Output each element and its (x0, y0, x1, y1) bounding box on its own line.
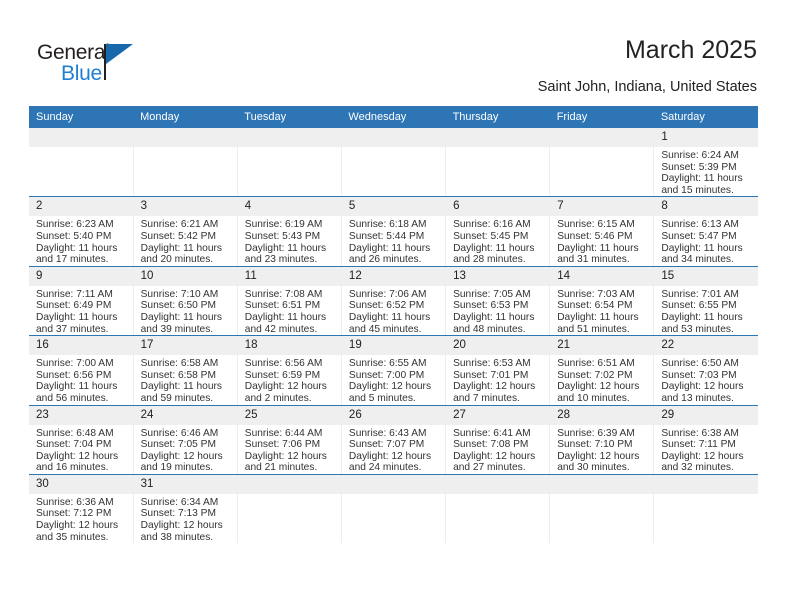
sunset-text: Sunset: 7:03 PM (661, 370, 754, 382)
calendar-day-cell[interactable]: 11Sunrise: 7:08 AMSunset: 6:51 PMDayligh… (237, 266, 341, 335)
general-blue-logo[interactable]: General Blue (37, 41, 167, 89)
day-number: 14 (550, 267, 653, 286)
sunrise-text: Sunrise: 7:00 AM (36, 358, 129, 370)
calendar-day-cell-empty (341, 474, 445, 543)
day-details: Sunrise: 7:06 AMSunset: 6:52 PMDaylight:… (342, 286, 445, 335)
daylight-text-line1: Daylight: 11 hours (36, 381, 129, 393)
sunset-text: Sunset: 6:59 PM (245, 370, 337, 382)
sunset-text: Sunset: 7:02 PM (557, 370, 649, 382)
calendar-day-cell-empty (237, 128, 341, 197)
sunset-text: Sunset: 5:40 PM (36, 231, 129, 243)
day-details: Sunrise: 6:36 AMSunset: 7:12 PMDaylight:… (29, 494, 133, 543)
sunrise-text: Sunrise: 6:58 AM (141, 358, 233, 370)
calendar-day-cell[interactable]: 30Sunrise: 6:36 AMSunset: 7:12 PMDayligh… (29, 474, 133, 543)
sunrise-text: Sunrise: 6:41 AM (453, 428, 545, 440)
daylight-text-line1: Daylight: 12 hours (453, 381, 545, 393)
daylight-text-line1: Daylight: 12 hours (245, 381, 337, 393)
page-title: March 2025 (625, 36, 757, 65)
sunset-text: Sunset: 5:39 PM (661, 162, 754, 174)
day-details: Sunrise: 6:50 AMSunset: 7:03 PMDaylight:… (654, 355, 758, 404)
daylight-text-line2: and 48 minutes. (453, 324, 545, 336)
day-details: Sunrise: 7:03 AMSunset: 6:54 PMDaylight:… (550, 286, 653, 335)
calendar-day-cell[interactable]: 29Sunrise: 6:38 AMSunset: 7:11 PMDayligh… (654, 405, 758, 474)
daylight-text-line2: and 7 minutes. (453, 393, 545, 405)
sunset-text: Sunset: 5:42 PM (141, 231, 233, 243)
calendar-day-cell[interactable]: 15Sunrise: 7:01 AMSunset: 6:55 PMDayligh… (654, 266, 758, 335)
day-number (342, 475, 445, 494)
day-number: 7 (550, 197, 653, 216)
sunrise-text: Sunrise: 6:53 AM (453, 358, 545, 370)
day-details: Sunrise: 6:18 AMSunset: 5:44 PMDaylight:… (342, 216, 445, 265)
day-details: Sunrise: 7:00 AMSunset: 6:56 PMDaylight:… (29, 355, 133, 404)
calendar-week-row: 16Sunrise: 7:00 AMSunset: 6:56 PMDayligh… (29, 336, 758, 405)
calendar-day-cell[interactable]: 16Sunrise: 7:00 AMSunset: 6:56 PMDayligh… (29, 336, 133, 405)
calendar-day-cell[interactable]: 22Sunrise: 6:50 AMSunset: 7:03 PMDayligh… (654, 336, 758, 405)
sunrise-text: Sunrise: 6:43 AM (349, 428, 441, 440)
logo-flag-icon (106, 44, 133, 64)
daylight-text-line2: and 34 minutes. (661, 254, 754, 266)
weekday-header-saturday: Saturday (654, 106, 758, 128)
calendar-week-row: 23Sunrise: 6:48 AMSunset: 7:04 PMDayligh… (29, 405, 758, 474)
day-number: 31 (134, 475, 237, 494)
day-number: 12 (342, 267, 445, 286)
day-details: Sunrise: 6:23 AMSunset: 5:40 PMDaylight:… (29, 216, 133, 265)
daylight-text-line1: Daylight: 12 hours (557, 451, 649, 463)
day-number: 9 (29, 267, 133, 286)
sunset-text: Sunset: 7:10 PM (557, 439, 649, 451)
calendar-day-cell[interactable]: 12Sunrise: 7:06 AMSunset: 6:52 PMDayligh… (341, 266, 445, 335)
day-details: Sunrise: 6:53 AMSunset: 7:01 PMDaylight:… (446, 355, 549, 404)
daylight-text-line2: and 27 minutes. (453, 462, 545, 474)
sunrise-text: Sunrise: 6:48 AM (36, 428, 129, 440)
daylight-text-line2: and 19 minutes. (141, 462, 233, 474)
daylight-text-line1: Daylight: 11 hours (245, 243, 337, 255)
sunset-text: Sunset: 7:08 PM (453, 439, 545, 451)
calendar-day-cell-empty (341, 128, 445, 197)
sunrise-text: Sunrise: 6:55 AM (349, 358, 441, 370)
sunrise-text: Sunrise: 6:44 AM (245, 428, 337, 440)
daylight-text-line2: and 39 minutes. (141, 324, 233, 336)
calendar-day-cell[interactable]: 9Sunrise: 7:11 AMSunset: 6:49 PMDaylight… (29, 266, 133, 335)
daylight-text-line2: and 37 minutes. (36, 324, 129, 336)
calendar-day-cell-empty (446, 474, 550, 543)
sunrise-text: Sunrise: 6:19 AM (245, 219, 337, 231)
day-details: Sunrise: 6:56 AMSunset: 6:59 PMDaylight:… (238, 355, 341, 404)
calendar-day-cell[interactable]: 17Sunrise: 6:58 AMSunset: 6:58 PMDayligh… (133, 336, 237, 405)
day-number: 18 (238, 336, 341, 355)
day-number: 23 (29, 406, 133, 425)
sunset-text: Sunset: 7:00 PM (349, 370, 441, 382)
daylight-text-line2: and 32 minutes. (661, 462, 754, 474)
daylight-text-line1: Daylight: 11 hours (453, 312, 545, 324)
day-number: 5 (342, 197, 445, 216)
day-details: Sunrise: 6:44 AMSunset: 7:06 PMDaylight:… (238, 425, 341, 474)
daylight-text-line1: Daylight: 11 hours (557, 312, 649, 324)
day-number: 15 (654, 267, 758, 286)
daylight-text-line2: and 5 minutes. (349, 393, 441, 405)
daylight-text-line1: Daylight: 12 hours (36, 451, 129, 463)
daylight-text-line2: and 59 minutes. (141, 393, 233, 405)
calendar-week-row: 30Sunrise: 6:36 AMSunset: 7:12 PMDayligh… (29, 474, 758, 543)
daylight-text-line2: and 23 minutes. (245, 254, 337, 266)
calendar-day-cell-empty (654, 474, 758, 543)
sunset-text: Sunset: 7:01 PM (453, 370, 545, 382)
calendar-day-cell-empty (446, 128, 550, 197)
sunrise-text: Sunrise: 6:15 AM (557, 219, 649, 231)
calendar-day-cell[interactable]: 27Sunrise: 6:41 AMSunset: 7:08 PMDayligh… (446, 405, 550, 474)
day-details: Sunrise: 7:01 AMSunset: 6:55 PMDaylight:… (654, 286, 758, 335)
calendar-day-cell[interactable]: 5Sunrise: 6:18 AMSunset: 5:44 PMDaylight… (341, 197, 445, 266)
daylight-text-line2: and 28 minutes. (453, 254, 545, 266)
day-number: 24 (134, 406, 237, 425)
day-details: Sunrise: 6:41 AMSunset: 7:08 PMDaylight:… (446, 425, 549, 474)
sunrise-text: Sunrise: 6:50 AM (661, 358, 754, 370)
sunset-text: Sunset: 6:54 PM (557, 300, 649, 312)
day-details: Sunrise: 7:05 AMSunset: 6:53 PMDaylight:… (446, 286, 549, 335)
calendar-day-cell[interactable]: 21Sunrise: 6:51 AMSunset: 7:02 PMDayligh… (550, 336, 654, 405)
page-header: General Blue March 2025 Saint John, Indi… (0, 0, 792, 100)
day-details: Sunrise: 6:58 AMSunset: 6:58 PMDaylight:… (134, 355, 237, 404)
day-number: 8 (654, 197, 758, 216)
calendar-day-cell-empty (237, 474, 341, 543)
daylight-text-line2: and 51 minutes. (557, 324, 649, 336)
day-number (134, 128, 237, 147)
sunset-text: Sunset: 6:58 PM (141, 370, 233, 382)
day-number: 26 (342, 406, 445, 425)
daylight-text-line1: Daylight: 12 hours (245, 451, 337, 463)
sunrise-text: Sunrise: 6:56 AM (245, 358, 337, 370)
daylight-text-line1: Daylight: 11 hours (36, 243, 129, 255)
weekday-header-friday: Friday (550, 106, 654, 128)
daylight-text-line2: and 30 minutes. (557, 462, 649, 474)
sunrise-text: Sunrise: 6:16 AM (453, 219, 545, 231)
day-number (238, 128, 341, 147)
weekday-header-tuesday: Tuesday (237, 106, 341, 128)
calendar-week-row: 9Sunrise: 7:11 AMSunset: 6:49 PMDaylight… (29, 266, 758, 335)
daylight-text-line2: and 10 minutes. (557, 393, 649, 405)
sunrise-text: Sunrise: 6:13 AM (661, 219, 754, 231)
day-number: 19 (342, 336, 445, 355)
logo-text-blue: Blue (61, 62, 102, 86)
sunrise-text: Sunrise: 6:18 AM (349, 219, 441, 231)
sunrise-text: Sunrise: 6:46 AM (141, 428, 233, 440)
day-number (342, 128, 445, 147)
sunset-text: Sunset: 6:52 PM (349, 300, 441, 312)
sunset-text: Sunset: 6:50 PM (141, 300, 233, 312)
day-details: Sunrise: 6:16 AMSunset: 5:45 PMDaylight:… (446, 216, 549, 265)
calendar-day-cell[interactable]: 31Sunrise: 6:34 AMSunset: 7:13 PMDayligh… (133, 474, 237, 543)
day-number: 4 (238, 197, 341, 216)
daylight-text-line1: Daylight: 12 hours (661, 381, 754, 393)
day-number: 6 (446, 197, 549, 216)
calendar-grid: SundayMondayTuesdayWednesdayThursdayFrid… (29, 106, 758, 543)
daylight-text-line2: and 16 minutes. (36, 462, 129, 474)
calendar-day-cell[interactable]: 1Sunrise: 6:24 AMSunset: 5:39 PMDaylight… (654, 128, 758, 197)
calendar-day-cell[interactable]: 3Sunrise: 6:21 AMSunset: 5:42 PMDaylight… (133, 197, 237, 266)
sunset-text: Sunset: 5:43 PM (245, 231, 337, 243)
day-number: 11 (238, 267, 341, 286)
calendar-day-cell[interactable]: 28Sunrise: 6:39 AMSunset: 7:10 PMDayligh… (550, 405, 654, 474)
calendar-day-cell-empty (133, 128, 237, 197)
sunset-text: Sunset: 5:44 PM (349, 231, 441, 243)
sunset-text: Sunset: 6:56 PM (36, 370, 129, 382)
calendar-day-cell[interactable]: 10Sunrise: 7:10 AMSunset: 6:50 PMDayligh… (133, 266, 237, 335)
day-number (550, 475, 653, 494)
daylight-text-line1: Daylight: 12 hours (141, 520, 233, 532)
daylight-text-line2: and 56 minutes. (36, 393, 129, 405)
calendar-day-cell[interactable]: 18Sunrise: 6:56 AMSunset: 6:59 PMDayligh… (237, 336, 341, 405)
day-details: Sunrise: 6:34 AMSunset: 7:13 PMDaylight:… (134, 494, 237, 543)
sunset-text: Sunset: 6:55 PM (661, 300, 754, 312)
daylight-text-line1: Daylight: 11 hours (453, 243, 545, 255)
daylight-text-line1: Daylight: 11 hours (141, 243, 233, 255)
day-number (29, 128, 133, 147)
daylight-text-line2: and 2 minutes. (245, 393, 337, 405)
day-details: Sunrise: 6:13 AMSunset: 5:47 PMDaylight:… (654, 216, 758, 265)
sunset-text: Sunset: 5:47 PM (661, 231, 754, 243)
daylight-text-line1: Daylight: 11 hours (349, 312, 441, 324)
sunset-text: Sunset: 7:11 PM (661, 439, 754, 451)
day-details: Sunrise: 7:10 AMSunset: 6:50 PMDaylight:… (134, 286, 237, 335)
sunrise-text: Sunrise: 6:24 AM (661, 150, 754, 162)
calendar-page: General Blue March 2025 Saint John, Indi… (0, 0, 792, 612)
sunrise-text: Sunrise: 7:11 AM (36, 289, 129, 301)
calendar-day-cell[interactable]: 19Sunrise: 6:55 AMSunset: 7:00 PMDayligh… (341, 336, 445, 405)
day-number: 30 (29, 475, 133, 494)
daylight-text-line1: Daylight: 11 hours (661, 173, 754, 185)
daylight-text-line2: and 13 minutes. (661, 393, 754, 405)
sunrise-text: Sunrise: 6:21 AM (141, 219, 233, 231)
day-details: Sunrise: 6:21 AMSunset: 5:42 PMDaylight:… (134, 216, 237, 265)
page-subtitle: Saint John, Indiana, United States (538, 79, 757, 95)
daylight-text-line1: Daylight: 12 hours (36, 520, 129, 532)
daylight-text-line1: Daylight: 11 hours (557, 243, 649, 255)
day-details: Sunrise: 7:11 AMSunset: 6:49 PMDaylight:… (29, 286, 133, 335)
sunset-text: Sunset: 6:51 PM (245, 300, 337, 312)
day-number: 20 (446, 336, 549, 355)
sunrise-text: Sunrise: 6:34 AM (141, 497, 233, 509)
sunrise-text: Sunrise: 7:08 AM (245, 289, 337, 301)
day-number: 16 (29, 336, 133, 355)
day-number: 3 (134, 197, 237, 216)
day-number: 29 (654, 406, 758, 425)
sunset-text: Sunset: 6:53 PM (453, 300, 545, 312)
day-details: Sunrise: 6:19 AMSunset: 5:43 PMDaylight:… (238, 216, 341, 265)
calendar-day-cell[interactable]: 23Sunrise: 6:48 AMSunset: 7:04 PMDayligh… (29, 405, 133, 474)
sunset-text: Sunset: 5:46 PM (557, 231, 649, 243)
sunset-text: Sunset: 7:13 PM (141, 508, 233, 520)
day-number: 27 (446, 406, 549, 425)
calendar-day-cell[interactable]: 2Sunrise: 6:23 AMSunset: 5:40 PMDaylight… (29, 197, 133, 266)
calendar-day-cell[interactable]: 14Sunrise: 7:03 AMSunset: 6:54 PMDayligh… (550, 266, 654, 335)
calendar-day-cell[interactable]: 20Sunrise: 6:53 AMSunset: 7:01 PMDayligh… (446, 336, 550, 405)
daylight-text-line1: Daylight: 12 hours (661, 451, 754, 463)
sunrise-text: Sunrise: 6:39 AM (557, 428, 649, 440)
calendar-week-row: 2Sunrise: 6:23 AMSunset: 5:40 PMDaylight… (29, 197, 758, 266)
daylight-text-line1: Daylight: 11 hours (349, 243, 441, 255)
sunset-text: Sunset: 5:45 PM (453, 231, 545, 243)
day-number (654, 475, 758, 494)
day-number: 10 (134, 267, 237, 286)
sunrise-text: Sunrise: 7:05 AM (453, 289, 545, 301)
day-details: Sunrise: 6:15 AMSunset: 5:46 PMDaylight:… (550, 216, 653, 265)
daylight-text-line1: Daylight: 11 hours (661, 312, 754, 324)
day-number: 2 (29, 197, 133, 216)
sunset-text: Sunset: 7:07 PM (349, 439, 441, 451)
sunrise-text: Sunrise: 6:38 AM (661, 428, 754, 440)
sunrise-text: Sunrise: 7:10 AM (141, 289, 233, 301)
calendar-table: SundayMondayTuesdayWednesdayThursdayFrid… (29, 106, 758, 543)
daylight-text-line1: Daylight: 12 hours (349, 451, 441, 463)
day-details: Sunrise: 6:39 AMSunset: 7:10 PMDaylight:… (550, 425, 653, 474)
weekday-header-monday: Monday (133, 106, 237, 128)
daylight-text-line1: Daylight: 11 hours (36, 312, 129, 324)
calendar-day-cell[interactable]: 6Sunrise: 6:16 AMSunset: 5:45 PMDaylight… (446, 197, 550, 266)
calendar-day-cell-empty (550, 474, 654, 543)
day-number (446, 128, 549, 147)
daylight-text-line2: and 20 minutes. (141, 254, 233, 266)
sunset-text: Sunset: 7:04 PM (36, 439, 129, 451)
day-number: 22 (654, 336, 758, 355)
daylight-text-line1: Daylight: 11 hours (245, 312, 337, 324)
calendar-header-row: SundayMondayTuesdayWednesdayThursdayFrid… (29, 106, 758, 128)
day-details: Sunrise: 6:55 AMSunset: 7:00 PMDaylight:… (342, 355, 445, 404)
sunset-text: Sunset: 7:12 PM (36, 508, 129, 520)
daylight-text-line1: Daylight: 12 hours (141, 451, 233, 463)
daylight-text-line2: and 31 minutes. (557, 254, 649, 266)
daylight-text-line2: and 53 minutes. (661, 324, 754, 336)
sunrise-text: Sunrise: 7:03 AM (557, 289, 649, 301)
weekday-header-thursday: Thursday (446, 106, 550, 128)
daylight-text-line1: Daylight: 11 hours (141, 381, 233, 393)
sunset-text: Sunset: 7:05 PM (141, 439, 233, 451)
day-number: 1 (654, 128, 758, 147)
day-details: Sunrise: 6:48 AMSunset: 7:04 PMDaylight:… (29, 425, 133, 474)
day-number (550, 128, 653, 147)
day-details: Sunrise: 6:38 AMSunset: 7:11 PMDaylight:… (654, 425, 758, 474)
day-number: 28 (550, 406, 653, 425)
day-number: 13 (446, 267, 549, 286)
daylight-text-line2: and 45 minutes. (349, 324, 441, 336)
day-number: 17 (134, 336, 237, 355)
daylight-text-line2: and 42 minutes. (245, 324, 337, 336)
calendar-day-cell[interactable]: 7Sunrise: 6:15 AMSunset: 5:46 PMDaylight… (550, 197, 654, 266)
day-number: 21 (550, 336, 653, 355)
daylight-text-line1: Daylight: 11 hours (661, 243, 754, 255)
calendar-day-cell[interactable]: 25Sunrise: 6:44 AMSunset: 7:06 PMDayligh… (237, 405, 341, 474)
calendar-day-cell-empty (550, 128, 654, 197)
daylight-text-line2: and 15 minutes. (661, 185, 754, 197)
day-details: Sunrise: 7:08 AMSunset: 6:51 PMDaylight:… (238, 286, 341, 335)
daylight-text-line1: Daylight: 12 hours (557, 381, 649, 393)
sunrise-text: Sunrise: 7:06 AM (349, 289, 441, 301)
daylight-text-line2: and 38 minutes. (141, 532, 233, 544)
calendar-day-cell[interactable]: 24Sunrise: 6:46 AMSunset: 7:05 PMDayligh… (133, 405, 237, 474)
daylight-text-line1: Daylight: 12 hours (349, 381, 441, 393)
daylight-text-line2: and 17 minutes. (36, 254, 129, 266)
day-details: Sunrise: 6:43 AMSunset: 7:07 PMDaylight:… (342, 425, 445, 474)
daylight-text-line2: and 35 minutes. (36, 532, 129, 544)
sunrise-text: Sunrise: 6:51 AM (557, 358, 649, 370)
daylight-text-line2: and 21 minutes. (245, 462, 337, 474)
daylight-text-line2: and 24 minutes. (349, 462, 441, 474)
calendar-day-cell-empty (29, 128, 133, 197)
daylight-text-line1: Daylight: 12 hours (453, 451, 545, 463)
calendar-day-cell[interactable]: 8Sunrise: 6:13 AMSunset: 5:47 PMDaylight… (654, 197, 758, 266)
day-details: Sunrise: 6:46 AMSunset: 7:05 PMDaylight:… (134, 425, 237, 474)
calendar-week-row: 1Sunrise: 6:24 AMSunset: 5:39 PMDaylight… (29, 128, 758, 197)
sunrise-text: Sunrise: 6:36 AM (36, 497, 129, 509)
calendar-day-cell[interactable]: 13Sunrise: 7:05 AMSunset: 6:53 PMDayligh… (446, 266, 550, 335)
sunset-text: Sunset: 6:49 PM (36, 300, 129, 312)
day-number: 25 (238, 406, 341, 425)
day-details: Sunrise: 6:51 AMSunset: 7:02 PMDaylight:… (550, 355, 653, 404)
weekday-header-wednesday: Wednesday (341, 106, 445, 128)
sunrise-text: Sunrise: 6:23 AM (36, 219, 129, 231)
sunrise-text: Sunrise: 7:01 AM (661, 289, 754, 301)
day-details: Sunrise: 6:24 AMSunset: 5:39 PMDaylight:… (654, 147, 758, 196)
day-number (238, 475, 341, 494)
day-number (446, 475, 549, 494)
calendar-day-cell[interactable]: 4Sunrise: 6:19 AMSunset: 5:43 PMDaylight… (237, 197, 341, 266)
daylight-text-line1: Daylight: 11 hours (141, 312, 233, 324)
sunset-text: Sunset: 7:06 PM (245, 439, 337, 451)
calendar-day-cell[interactable]: 26Sunrise: 6:43 AMSunset: 7:07 PMDayligh… (341, 405, 445, 474)
weekday-header-sunday: Sunday (29, 106, 133, 128)
daylight-text-line2: and 26 minutes. (349, 254, 441, 266)
